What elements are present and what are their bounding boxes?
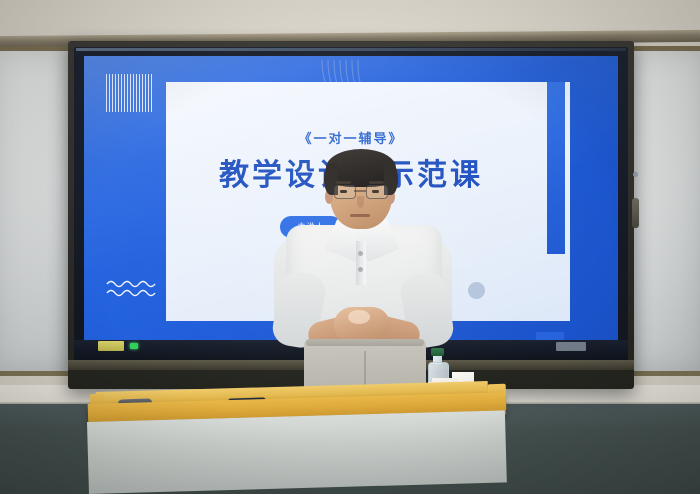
whiteboard-sheen [0,51,73,371]
board-rating-label [98,341,124,351]
shirt-button-top [358,251,363,256]
presenter-nose [357,196,364,208]
presenter-mouth [350,214,370,217]
board-power-led-icon [130,343,138,349]
glasses-bridge-icon [354,190,366,192]
lectern-body [87,410,507,494]
whiteboard-panel-left [0,46,78,376]
board-side-indicator-icon [633,172,638,177]
presenter-eyebrow-right [369,181,384,184]
water-bottle-cap [431,348,444,356]
slide-watermark-icon [468,282,485,299]
bezel-highlight [76,48,626,51]
presenter-waistband [306,339,424,346]
presenter-placket [356,241,366,285]
board-brand-logo [556,342,586,351]
shirt-button-bottom [358,267,363,272]
slide-subtitle: 《一对一辅导》 [84,128,618,147]
hands-highlight [348,310,370,324]
board-side-button[interactable] [632,198,639,228]
wavy-lines-icon [106,278,162,298]
classroom-photo: 《一对一辅导》 教学设计与示范课 主讲人 [0,0,700,494]
presenter-eyebrow-left [336,181,351,184]
vertical-stripe-block-icon [106,74,154,112]
presenter-eye-right [372,190,379,193]
presenter-eye-left [340,190,347,193]
